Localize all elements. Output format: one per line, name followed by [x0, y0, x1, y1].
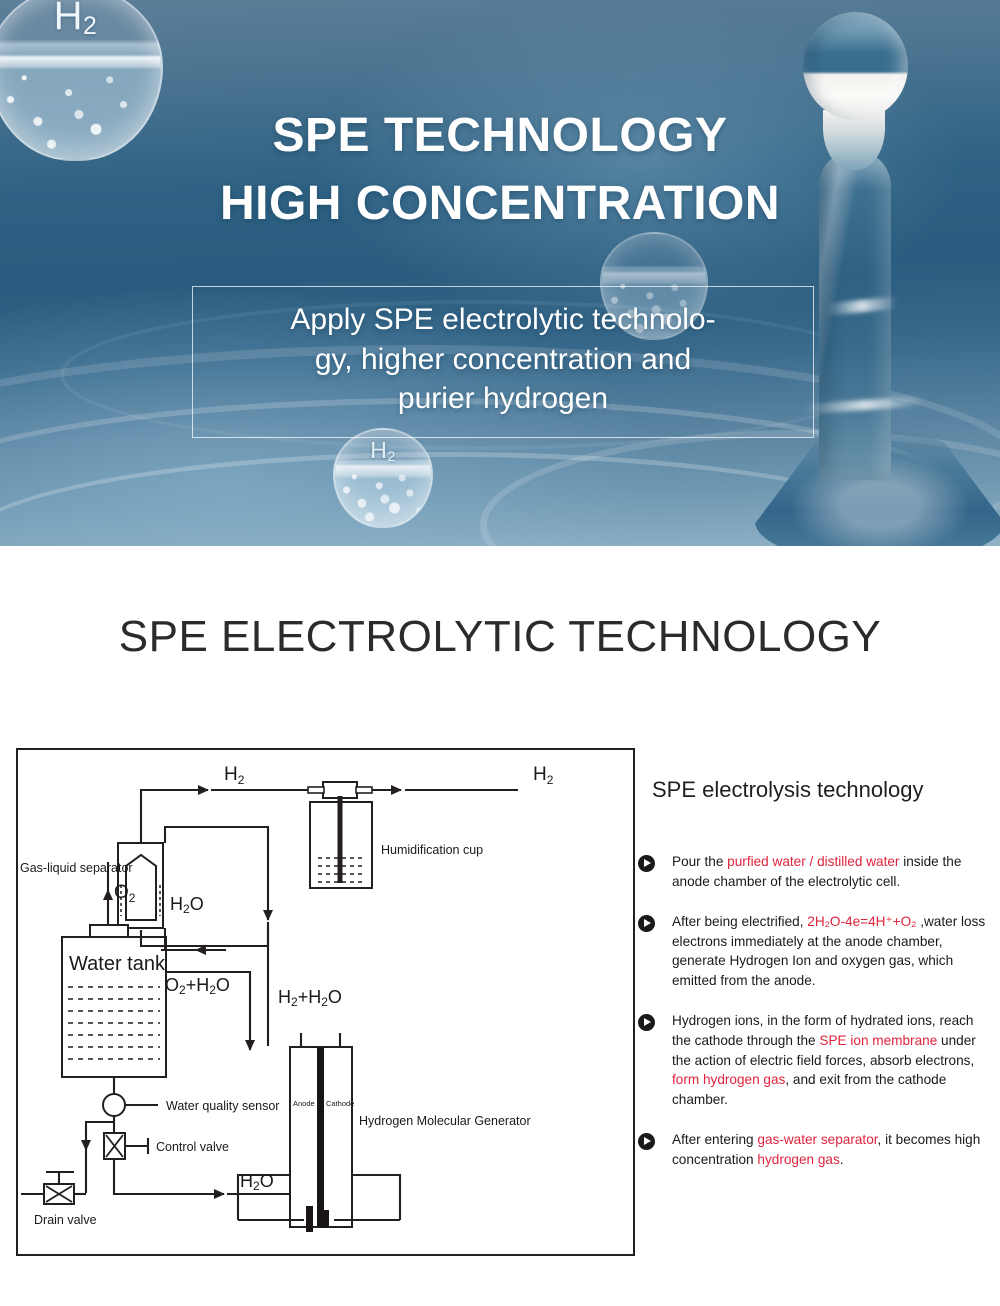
- label-anode: Anode: [293, 1099, 315, 1108]
- info-bullet-text: After being electrified, 2H₂O-4e=4H⁺+O₂ …: [672, 914, 985, 988]
- label-o2-h2o: O2+H2O: [165, 975, 230, 997]
- hero-banner: H2 H2 SPE TECHNOLOGY HIGH CONCENTRATION …: [0, 0, 1000, 546]
- bubble-foam: [0, 60, 161, 159]
- label-cathode: Cathode: [326, 1099, 354, 1108]
- label-h2-out: H2: [533, 764, 554, 787]
- water-droplet-graphic: [775, 0, 990, 546]
- label-control-valve: Control valve: [156, 1140, 229, 1154]
- label-humidification-cup: Humidification cup: [381, 843, 483, 857]
- h2-bubble-icon: H2: [0, 0, 163, 161]
- info-bullet-item: After entering gas-water separator, it b…: [638, 1130, 994, 1169]
- label-gas-liquid-separator: Gas-liquid separator: [20, 861, 133, 875]
- info-bullet-item: Pour the purfied water / distilled water…: [638, 852, 994, 891]
- play-circle-icon: [638, 855, 655, 872]
- label-h2-mid: H2: [224, 764, 245, 787]
- label-water-tank: Water tank: [69, 953, 166, 975]
- page-root: H2 H2 SPE TECHNOLOGY HIGH CONCENTRATION …: [0, 0, 1000, 1306]
- play-circle-icon: [638, 1014, 655, 1031]
- info-bullet-list: Pour the purfied water / distilled water…: [638, 852, 994, 1190]
- info-bullet-text: After entering gas-water separator, it b…: [672, 1132, 980, 1167]
- process-flow-svg: H2 H2 Humidification cup Gas-liquid sepa…: [18, 750, 633, 1254]
- label-h2o-return: H2O: [170, 894, 204, 916]
- info-heading: SPE electrolysis technology: [652, 777, 923, 803]
- h2-bubble-icon: H2: [333, 428, 433, 528]
- label-o2: O2: [114, 882, 136, 905]
- info-bullet-item: After being electrified, 2H₂O-4e=4H⁺+O₂ …: [638, 912, 994, 990]
- label-drain-valve: Drain valve: [34, 1213, 97, 1227]
- info-bullet-item: Hydrogen ions, in the form of hydrated i…: [638, 1011, 994, 1109]
- label-hydrogen-molecular-generator: Hydrogen Molecular Generator: [359, 1114, 531, 1128]
- play-circle-icon: [638, 915, 655, 932]
- h2-bubble-label: H2: [0, 0, 161, 39]
- play-circle-icon: [638, 1133, 655, 1150]
- bubble-foam: [335, 466, 431, 526]
- section-title: SPE ELECTROLYTIC TECHNOLOGY: [0, 612, 1000, 662]
- banner-title: SPE TECHNOLOGY HIGH CONCENTRATION: [140, 102, 860, 238]
- h2-bubble-label: H2: [335, 437, 431, 464]
- banner-subtitle: Apply SPE electrolytic technolo- gy, hig…: [192, 300, 814, 419]
- label-h2-h2o: H2+H2O: [278, 987, 342, 1009]
- info-bullet-text: Hydrogen ions, in the form of hydrated i…: [672, 1013, 976, 1106]
- label-water-quality-sensor: Water quality sensor: [166, 1099, 279, 1113]
- spe-process-diagram: H2 H2 Humidification cup Gas-liquid sepa…: [16, 748, 635, 1256]
- info-bullet-text: Pour the purfied water / distilled water…: [672, 854, 961, 889]
